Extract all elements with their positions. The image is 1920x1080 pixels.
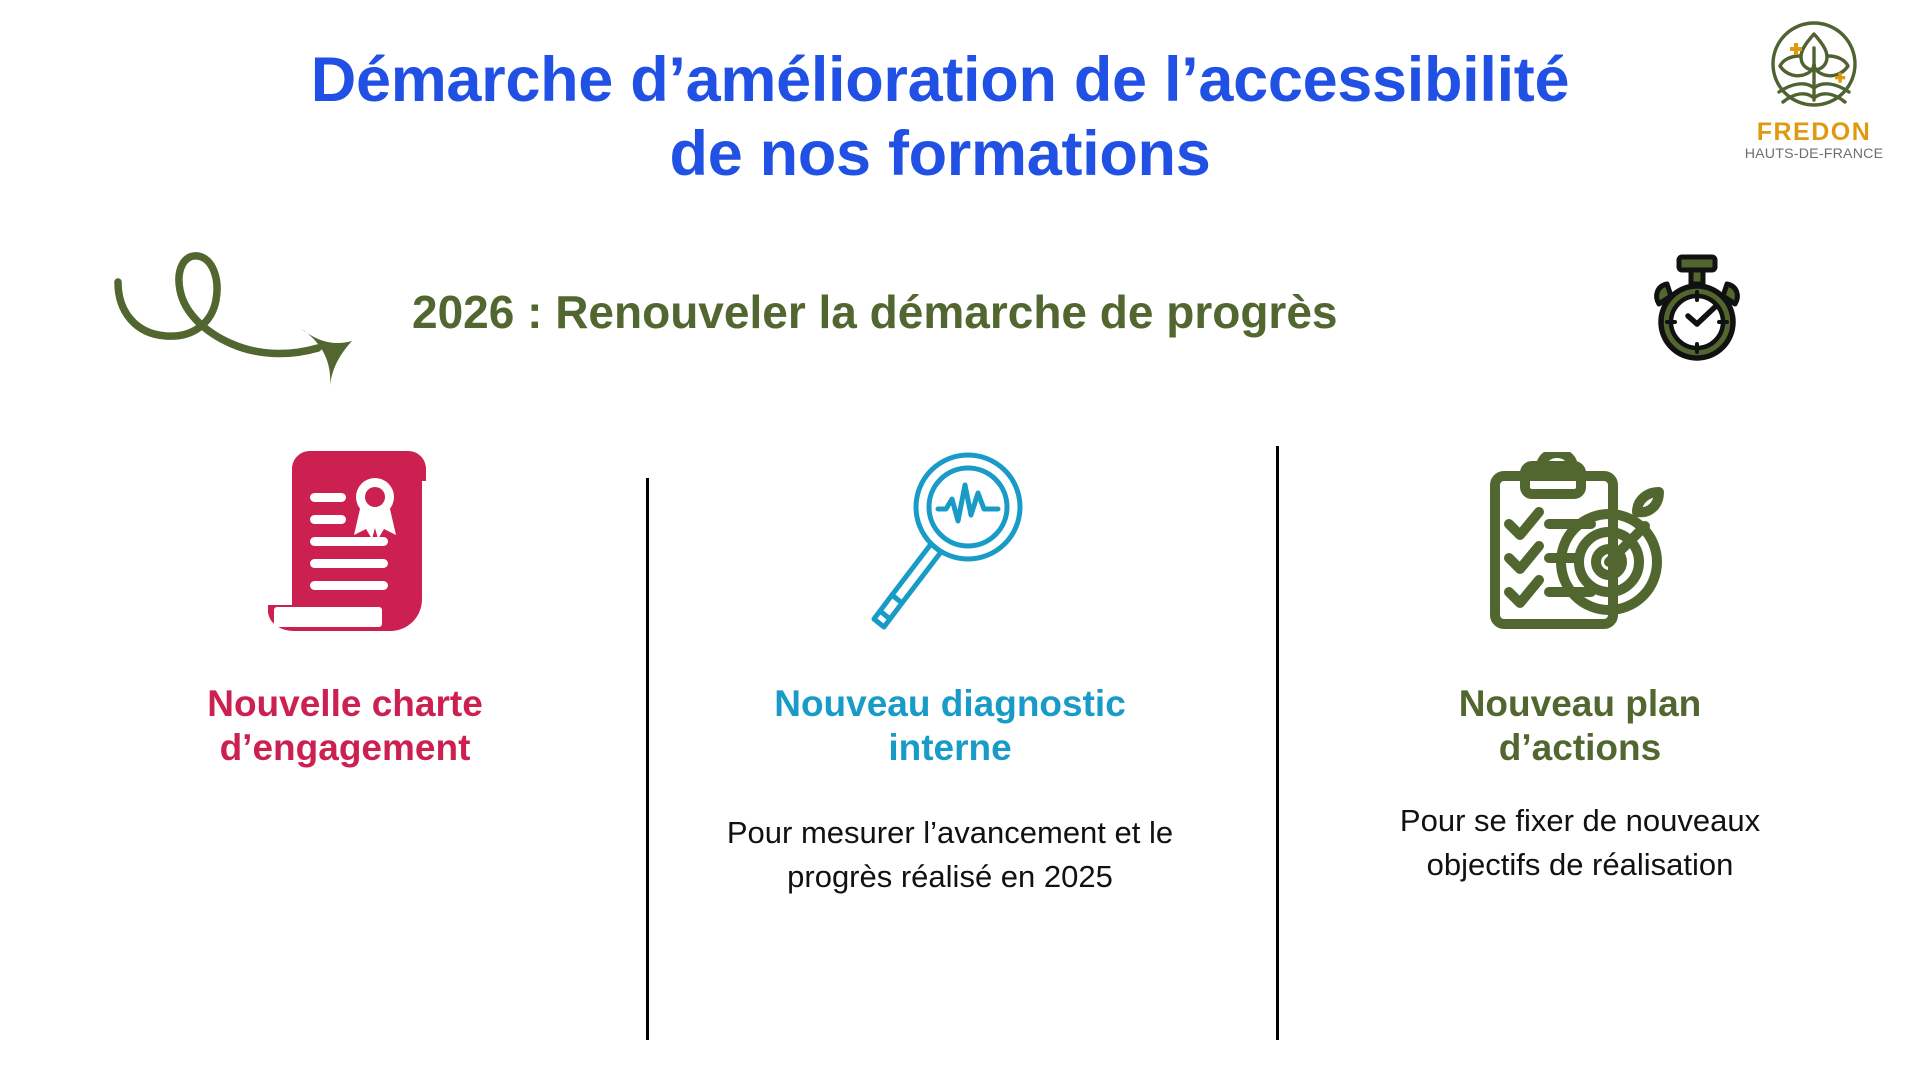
slide-title-line-1: Démarche d’amélioration de l’accessibili… [120,44,1760,118]
column-heading-nouveau-diagnostic: Nouveau diagnostic interne [690,682,1210,771]
stopwatch-icon [1645,254,1749,369]
subtitle-text: 2026 : Renouveler la démarche de progrès [412,287,1338,338]
column-nouvelle-charte: Nouvelle charte d’engagement [110,440,580,771]
clipboard-target-icon [1320,440,1840,650]
magnifier-pulse-icon [690,440,1210,650]
column-heading-nouveau-plan: Nouveau plan d’actions [1320,682,1840,771]
certificate-scroll-icon [110,440,580,650]
slide-canvas: FREDON HAUTS-DE-FRANCE Démarche d’amélio… [0,0,1920,1080]
column-heading-line-2: d’actions [1320,726,1840,770]
three-column-section: Nouvelle charte d’engagement [0,440,1920,1040]
column-heading-line-1: Nouvelle charte [110,682,580,726]
column-heading-line-1: Nouveau plan [1320,682,1840,726]
slide-title: Démarche d’amélioration de l’accessibili… [120,44,1760,191]
subtitle-row: 2026 : Renouveler la démarche de progrès [0,240,1920,400]
column-heading-line-1: Nouveau diagnostic [690,682,1210,726]
column-body-nouveau-diagnostic: Pour mesurer l’avancement et le progrès … [690,811,1210,899]
column-divider-2 [1276,446,1279,1040]
column-heading-line-2: d’engagement [110,726,580,770]
column-divider-1 [646,478,649,1040]
column-nouveau-diagnostic: Nouveau diagnostic interne Pour mesurer … [690,440,1210,899]
column-nouveau-plan: Nouveau plan d’actions Pour se fixer de … [1320,440,1840,887]
column-heading-line-2: interne [690,726,1210,770]
curly-arrow-icon [112,240,392,395]
slide-title-line-2: de nos formations [120,118,1760,192]
column-heading-nouvelle-charte: Nouvelle charte d’engagement [110,682,580,771]
column-body-nouveau-plan: Pour se fixer de nouveaux objectifs de r… [1320,799,1840,887]
